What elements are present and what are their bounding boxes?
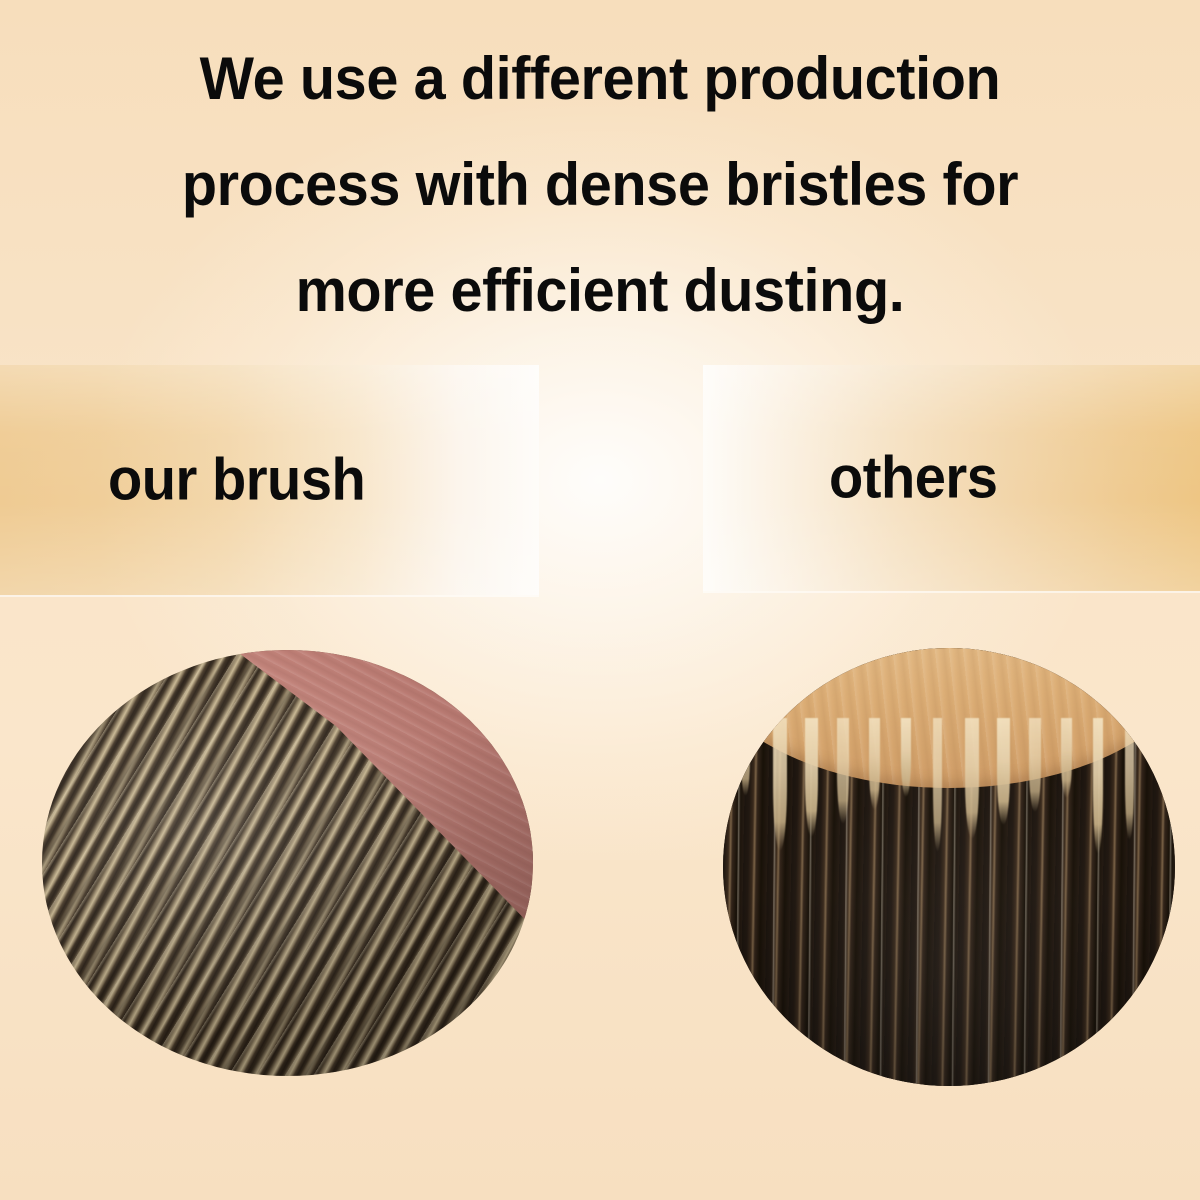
headline-text: We use a different production process wi… [24,26,1176,344]
label-band-others: others [703,365,1200,591]
label-others: others [829,449,997,508]
photo-others [723,648,1175,1086]
label-our-brush: our brush [108,451,365,510]
label-band-our-brush: our brush [0,365,539,595]
photo-shading-right [723,648,1175,1086]
photo-our-brush [42,650,533,1076]
comparison-graphic: We use a different production process wi… [0,0,1200,1200]
dense-bristle-image [42,650,533,1076]
sparse-bristle-image [723,648,1175,1086]
photo-shading-left [42,650,533,1076]
